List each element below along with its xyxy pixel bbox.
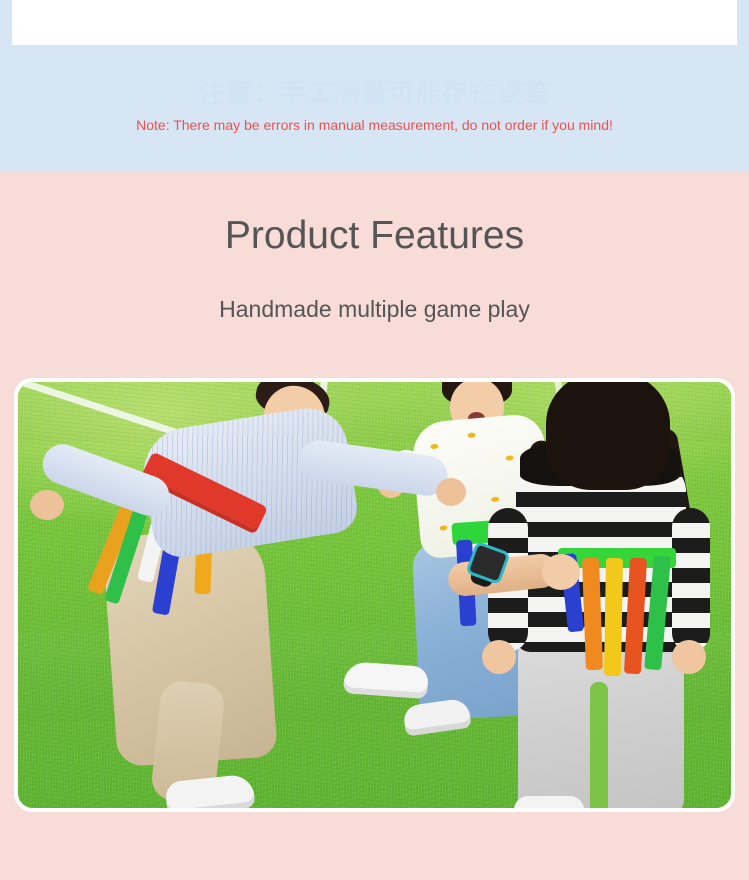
girl-right-shoe xyxy=(514,796,584,808)
girl-right-hand-left xyxy=(482,640,516,674)
girl-right-tail-yellow xyxy=(604,558,623,676)
product-features-title: Product Features xyxy=(0,212,749,260)
boy-left-shoe-right xyxy=(343,661,429,699)
hero-photo xyxy=(18,382,731,808)
boy-left-hand-right xyxy=(436,478,466,506)
size-note-section: 注意：手工测量可能存在误差 Note: There may be errors … xyxy=(0,0,749,172)
girl-right-hand-right xyxy=(672,640,706,674)
measurement-watermark-text: 注意：手工测量可能存在误差 xyxy=(0,76,749,110)
size-chart-card xyxy=(12,0,737,45)
manual-measurement-note: Note: There may be errors in manual meas… xyxy=(0,116,749,135)
product-features-section: Product Features Handmade multiple game … xyxy=(0,172,749,880)
product-detail-page: 注意：手工测量可能存在误差 Note: There may be errors … xyxy=(0,0,749,880)
girl-right-leg-gap xyxy=(590,682,608,808)
boy-left-hand-left xyxy=(30,490,64,520)
girl-right-arm-right xyxy=(672,508,710,652)
child-middle-reaching-hand xyxy=(542,554,580,590)
girl-right-hair xyxy=(546,382,670,490)
hero-photo-frame xyxy=(14,378,735,812)
product-features-subtitle: Handmade multiple game play xyxy=(0,294,749,324)
